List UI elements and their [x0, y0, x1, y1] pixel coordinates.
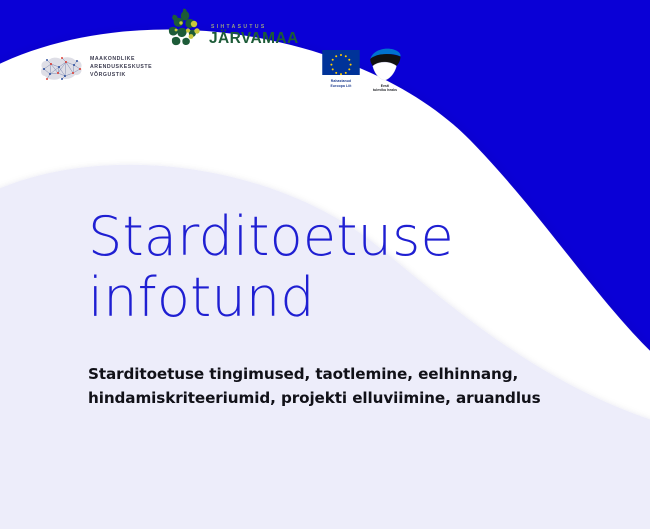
european-union-flag-icon — [322, 50, 360, 75]
estonian-state-emblem-icon — [367, 47, 403, 81]
eu-caption-line-2: Euroopa Liit — [331, 84, 352, 89]
mak-line-2: ARENDUSKESKUSTE — [90, 63, 152, 71]
estonia-network-map-icon — [37, 48, 85, 86]
jarvamaa-wordmark: SIHTASUTUS JÄRVAMAA — [209, 24, 299, 46]
eu-caption: Rahastanud Euroopa Liit — [331, 79, 352, 88]
page-title: Starditoetuse infotund — [88, 206, 558, 328]
logo-european-union: Rahastanud Euroopa Liit — [322, 50, 360, 88]
jarvamaa-plant-icon — [163, 8, 208, 53]
estonia-caption: Eesti tuleviku heaks — [373, 84, 397, 93]
mak-line-1: MAAKONDLIKE — [90, 55, 152, 63]
partner-logo-bar: MAAKONDLIKE ARENDUSKESKUSTE VÕRGUSTIK — [0, 0, 650, 110]
presentation-slide: MAAKONDLIKE ARENDUSKESKUSTE VÕRGUSTIK — [0, 0, 650, 529]
mak-line-3: VÕRGUSTIK — [90, 71, 152, 79]
estonia-caption-line-2: tuleviku heaks — [373, 88, 397, 92]
jarvamaa-eyebrow: SIHTASUTUS — [211, 24, 299, 30]
page-subtitle: Starditoetuse tingimused, taotlemine, ee… — [88, 362, 558, 410]
logo-sihtasutus-jarvamaa: SIHTASUTUS JÄRVAMAA — [163, 8, 299, 53]
jarvamaa-name: JÄRVAMAA — [209, 31, 299, 46]
mak-wordmark: MAAKONDLIKE ARENDUSKESKUSTE VÕRGUSTIK — [90, 55, 152, 80]
logo-estonian-state: Eesti tuleviku heaks — [367, 47, 403, 93]
logo-maakondlike-arenduskeskuste-vorgustik: MAAKONDLIKE ARENDUSKESKUSTE VÕRGUSTIK — [37, 48, 152, 86]
eu-caption-line-1: Rahastanud — [331, 79, 352, 84]
